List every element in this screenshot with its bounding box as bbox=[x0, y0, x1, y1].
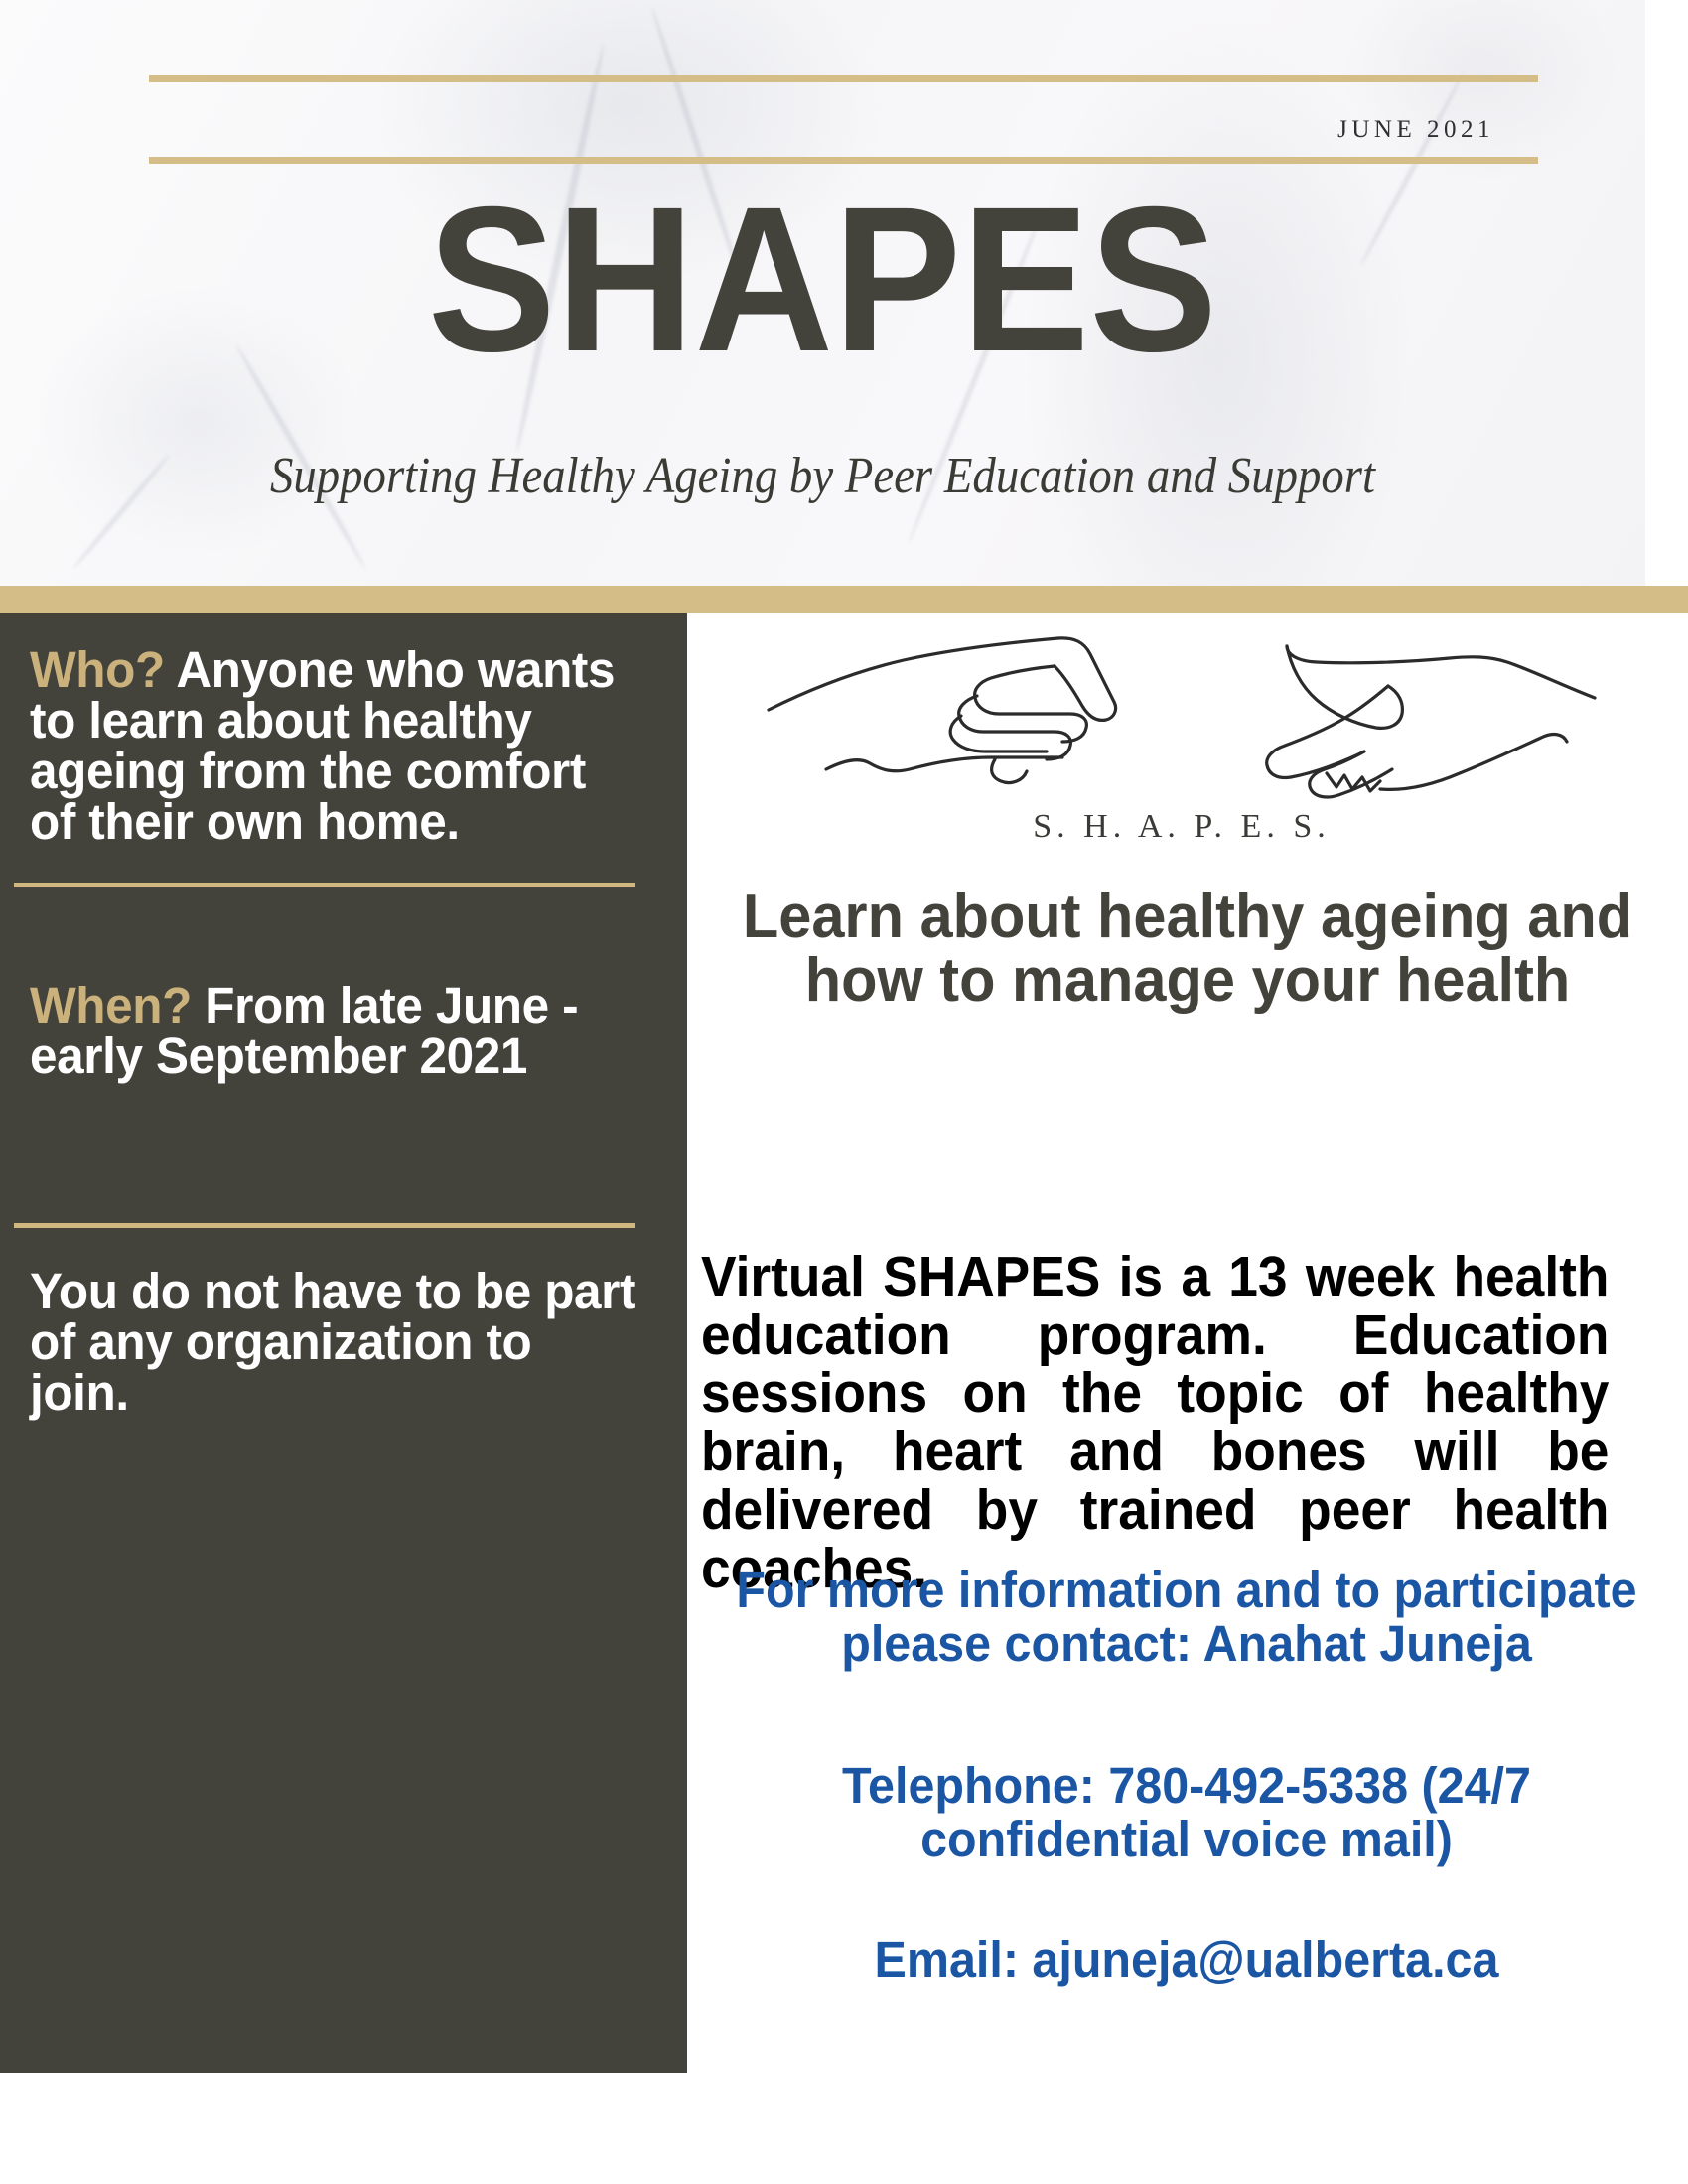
header-gold-rule-top bbox=[149, 75, 1538, 82]
two-hands-reaching-icon bbox=[765, 624, 1599, 823]
logo-wordmark: S. H. A. P. E. S. bbox=[765, 808, 1599, 846]
info-sidebar: Who? Anyone who wants to learn about hea… bbox=[0, 613, 687, 2073]
shapes-logo: S. H. A. P. E. S. bbox=[765, 624, 1599, 883]
contact-intro: For more information and to participate … bbox=[725, 1564, 1647, 1671]
sidebar-block-who-label: Who? bbox=[30, 641, 165, 698]
content-body-paragraph: Virtual SHAPES is a 13 week health educa… bbox=[701, 1248, 1609, 1597]
contact-telephone: Telephone: 780-492-5338 (24/7 confidenti… bbox=[725, 1759, 1647, 1866]
header-gold-rule-bottom bbox=[149, 157, 1538, 164]
sidebar-divider-2 bbox=[14, 1223, 635, 1228]
page-title: SHAPES bbox=[58, 177, 1588, 383]
page-tagline: Supporting Healthy Ageing by Peer Educat… bbox=[82, 447, 1563, 505]
gold-divider-band bbox=[0, 586, 1688, 613]
sidebar-block-who: Who? Anyone who wants to learn about hea… bbox=[30, 644, 636, 847]
sidebar-block-note-text: You do not have to be part of any organi… bbox=[30, 1263, 635, 1421]
content-heading: Learn about healthy ageing and how to ma… bbox=[724, 886, 1650, 1014]
contact-email[interactable]: Email: ajuneja@ualberta.ca bbox=[725, 1933, 1647, 1986]
sidebar-divider-1 bbox=[14, 883, 635, 887]
issue-date: JUNE 2021 bbox=[1337, 116, 1494, 144]
main-content: S. H. A. P. E. S. Learn about healthy ag… bbox=[687, 613, 1688, 2184]
sidebar-block-when-label: When? bbox=[30, 977, 192, 1033]
sidebar-block-when: When? From late June - early September 2… bbox=[30, 980, 636, 1081]
sidebar-block-note: You do not have to be part of any organi… bbox=[30, 1266, 636, 1418]
header-marble-banner: JUNE 2021 SHAPES Supporting Healthy Agei… bbox=[0, 0, 1645, 586]
